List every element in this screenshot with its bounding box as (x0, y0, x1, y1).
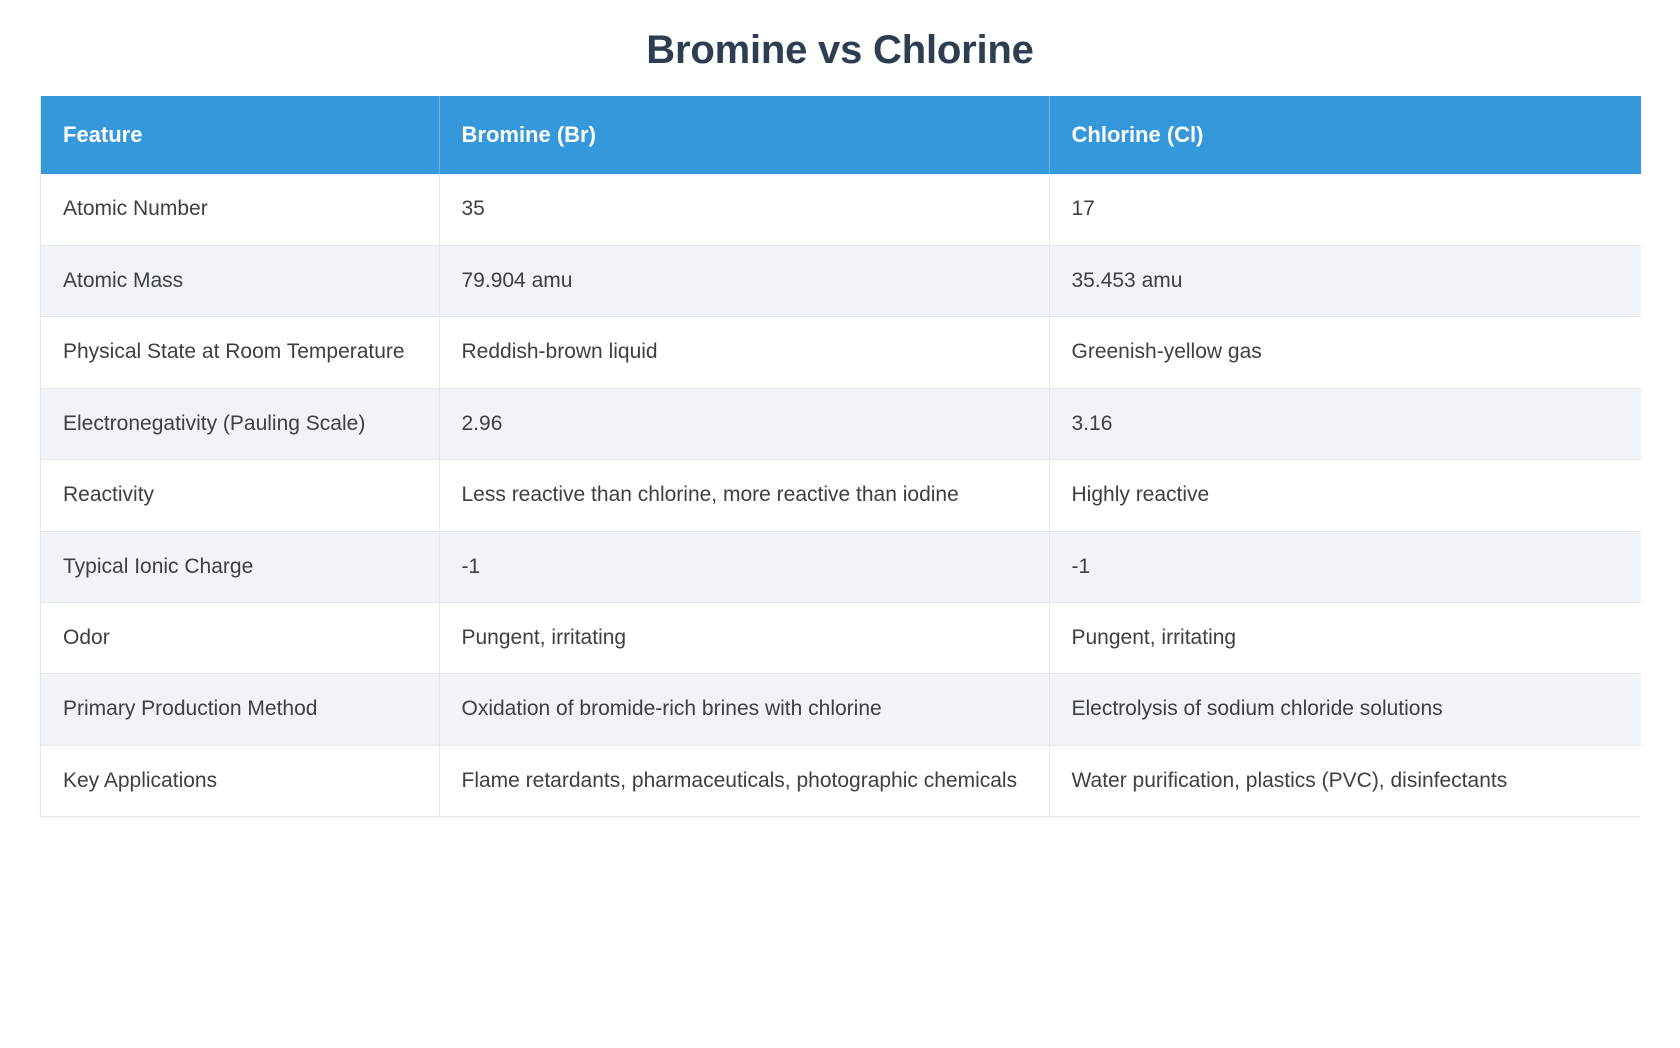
cell-chlorine: Water purification, plastics (PVC), disi… (1049, 745, 1641, 816)
cell-bromine: 2.96 (439, 388, 1049, 459)
table-row: Primary Production Method Oxidation of b… (41, 674, 1641, 745)
column-header-bromine[interactable]: Bromine (Br) (439, 96, 1049, 174)
cell-bromine: 35 (439, 174, 1049, 245)
cell-bromine: -1 (439, 531, 1049, 602)
cell-bromine: Flame retardants, pharmaceuticals, photo… (439, 745, 1049, 816)
table-row: Atomic Number 35 17 (41, 174, 1641, 245)
page-title: Bromine vs Chlorine (0, 0, 1680, 96)
cell-bromine: Reddish-brown liquid (439, 317, 1049, 388)
cell-feature: Typical Ionic Charge (41, 531, 439, 602)
cell-feature: Atomic Number (41, 174, 439, 245)
table-header: Feature Bromine (Br) Chlorine (Cl) (41, 96, 1641, 174)
cell-feature: Key Applications (41, 745, 439, 816)
cell-chlorine: Pungent, irritating (1049, 603, 1641, 674)
cell-chlorine: Highly reactive (1049, 460, 1641, 531)
table-row: Odor Pungent, irritating Pungent, irrita… (41, 603, 1641, 674)
cell-chlorine: Electrolysis of sodium chloride solution… (1049, 674, 1641, 745)
cell-bromine: Oxidation of bromide-rich brines with ch… (439, 674, 1049, 745)
cell-chlorine: 17 (1049, 174, 1641, 245)
cell-feature: Physical State at Room Temperature (41, 317, 439, 388)
table-header-row: Feature Bromine (Br) Chlorine (Cl) (41, 96, 1641, 174)
table-row: Typical Ionic Charge -1 -1 (41, 531, 1641, 602)
page-root: Bromine vs Chlorine Feature Bromine (Br)… (0, 0, 1680, 1048)
comparison-table-container: Feature Bromine (Br) Chlorine (Cl) Atomi… (40, 96, 1640, 817)
table-body: Atomic Number 35 17 Atomic Mass 79.904 a… (41, 174, 1641, 816)
table-row: Reactivity Less reactive than chlorine, … (41, 460, 1641, 531)
cell-feature: Atomic Mass (41, 245, 439, 316)
cell-feature: Odor (41, 603, 439, 674)
cell-chlorine: -1 (1049, 531, 1641, 602)
cell-feature: Reactivity (41, 460, 439, 531)
comparison-table: Feature Bromine (Br) Chlorine (Cl) Atomi… (41, 96, 1641, 816)
table-row: Electronegativity (Pauling Scale) 2.96 3… (41, 388, 1641, 459)
column-header-feature[interactable]: Feature (41, 96, 439, 174)
table-row: Physical State at Room Temperature Reddi… (41, 317, 1641, 388)
table-row: Key Applications Flame retardants, pharm… (41, 745, 1641, 816)
cell-chlorine: Greenish-yellow gas (1049, 317, 1641, 388)
table-row: Atomic Mass 79.904 amu 35.453 amu (41, 245, 1641, 316)
cell-chlorine: 35.453 amu (1049, 245, 1641, 316)
cell-bromine: Less reactive than chlorine, more reacti… (439, 460, 1049, 531)
cell-feature: Electronegativity (Pauling Scale) (41, 388, 439, 459)
cell-bromine: Pungent, irritating (439, 603, 1049, 674)
cell-feature: Primary Production Method (41, 674, 439, 745)
cell-bromine: 79.904 amu (439, 245, 1049, 316)
column-header-chlorine[interactable]: Chlorine (Cl) (1049, 96, 1641, 174)
cell-chlorine: 3.16 (1049, 388, 1641, 459)
